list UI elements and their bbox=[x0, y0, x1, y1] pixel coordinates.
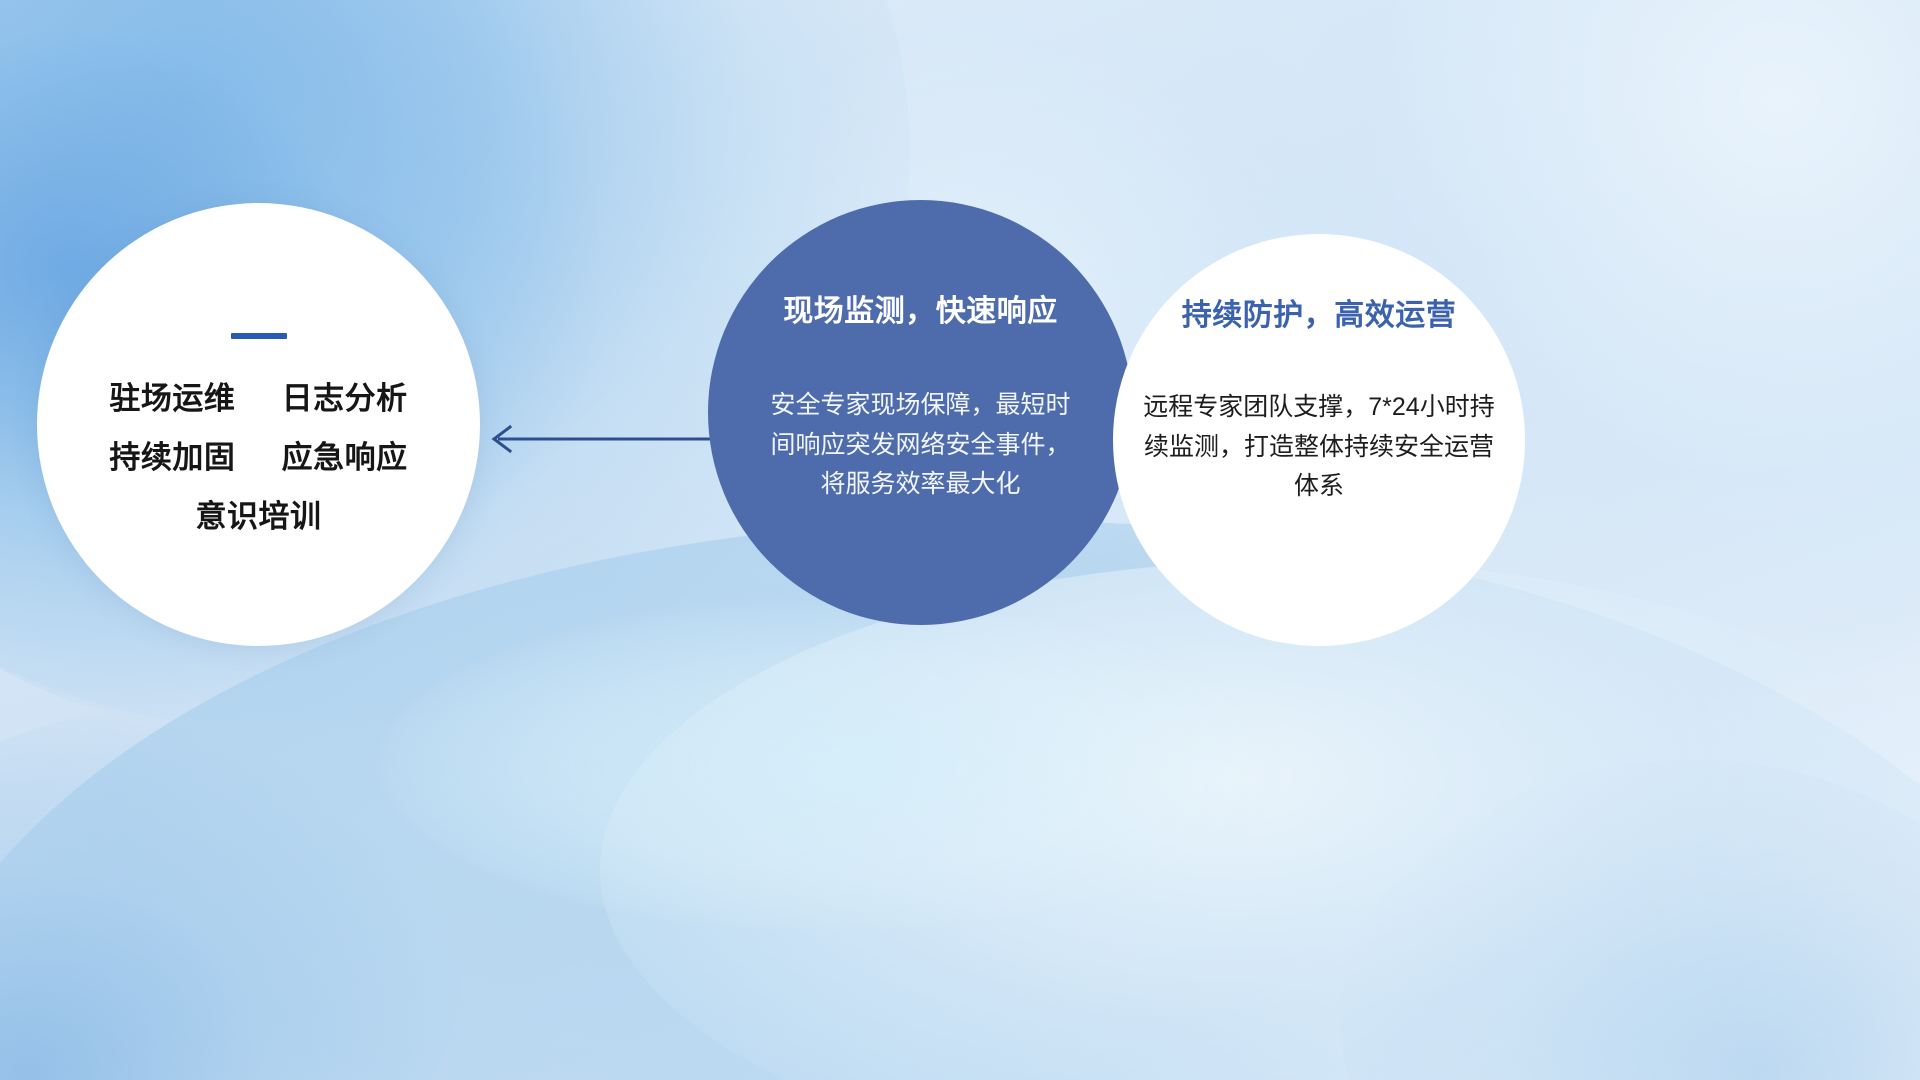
middle-circle-title: 现场监测，快速响应 bbox=[783, 286, 1058, 330]
flow-arrow-icon bbox=[480, 412, 730, 466]
left-capability-circle: 驻场运维 日志分析 持续加固 应急响应 意识培训 bbox=[37, 203, 480, 646]
capability-list: 驻场运维 日志分析 持续加固 应急响应 意识培训 bbox=[109, 383, 407, 532]
right-feature-circle: 持续防护，高效运营 远程专家团队支撑，7*24小时持续监测，打造整体持续安全运营… bbox=[1113, 234, 1525, 646]
background-cyan-streak bbox=[380, 600, 1280, 930]
list-item: 驻场运维 日志分析 bbox=[109, 383, 407, 414]
capability-label: 驻场运维 bbox=[109, 381, 235, 416]
capability-label: 日志分析 bbox=[282, 381, 408, 416]
capability-label: 持续加固 bbox=[109, 440, 235, 475]
middle-circle-body: 安全专家现场保障，最短时间响应突发网络安全事件，将服务效率最大化 bbox=[771, 386, 1071, 505]
list-item: 持续加固 应急响应 bbox=[109, 442, 407, 473]
right-circle-title: 持续防护，高效运营 bbox=[1182, 290, 1457, 334]
capability-label: 应急响应 bbox=[282, 440, 408, 475]
accent-dash-icon bbox=[231, 333, 287, 339]
capability-label: 意识培训 bbox=[196, 499, 322, 534]
middle-feature-circle: 现场监测，快速响应 安全专家现场保障，最短时间响应突发网络安全事件，将服务效率最… bbox=[708, 200, 1133, 625]
right-circle-body: 远程专家团队支撑，7*24小时持续监测，打造整体持续安全运营体系 bbox=[1139, 388, 1499, 507]
list-item: 意识培训 bbox=[109, 501, 407, 532]
